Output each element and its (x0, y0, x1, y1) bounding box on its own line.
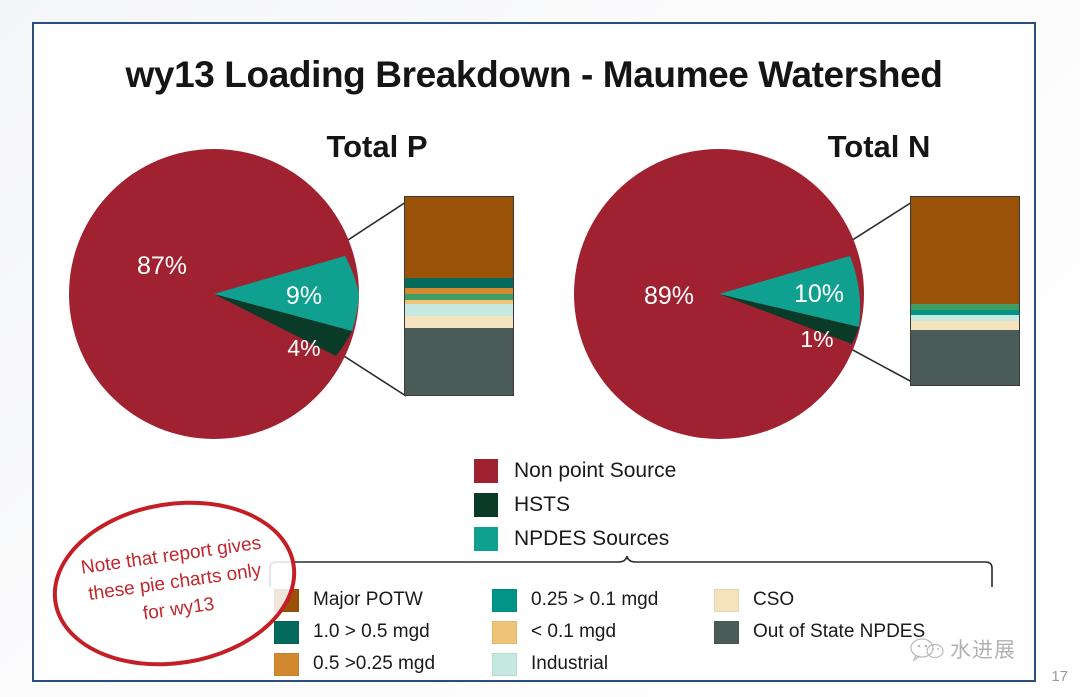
bar-n-segment-out-of-state (911, 330, 1019, 385)
pie-n-value-nonpoint: 89% (644, 282, 694, 310)
legend-label-lt-0-1-mgd: < 0.1 mgd (531, 621, 616, 643)
pie-chart-total-n: 89% 10% 1% (569, 144, 869, 444)
legend-label-hsts: HSTS (514, 493, 570, 517)
legend-label-non-point-source: Non point Source (514, 459, 676, 483)
legend-swatch-0-5-gt-0-25-mgd (274, 653, 299, 676)
legend-item-npdes-sources: NPDES Sources (474, 522, 676, 556)
stacked-bar-total-n (910, 196, 1020, 386)
legend-item-non-point-source: Non point Source (474, 454, 676, 488)
legend-main: Non point Source HSTS NPDES Sources (474, 454, 676, 556)
bar-n-segment-cso (911, 321, 1019, 330)
page-number: 17 (1051, 668, 1068, 685)
legend-label-npdes-sources: NPDES Sources (514, 527, 669, 551)
legend-swatch-lt-0-1-mgd (492, 621, 517, 644)
pie-p-value-hsts: 4% (287, 335, 320, 361)
annotation-note-bubble: Note that report gives these pie charts … (41, 484, 308, 682)
page-title: wy13 Loading Breakdown - Maumee Watershe… (34, 54, 1034, 96)
bar-segment-major-potw (405, 197, 513, 278)
bar-segment-1-0-gt-0-5-mgd (405, 278, 513, 288)
legend-swatch-out-of-state-npdes (714, 621, 739, 644)
watermark: 水进展 (910, 634, 1016, 664)
watermark-text: 水进展 (950, 634, 1016, 664)
legend-bottom-column-1: Major POTW 1.0 > 0.5 mgd 0.5 >0.25 mgd (274, 584, 492, 680)
pie-n-value-npdes: 10% (794, 280, 844, 308)
legend-swatch-npdes-sources (474, 527, 498, 551)
bar-n-segment-major-potw (911, 197, 1019, 304)
legend-bottom-column-3: CSO Out of State NPDES (714, 584, 964, 680)
legend-bottom-column-2: 0.25 > 0.1 mgd < 0.1 mgd Industrial (492, 584, 714, 680)
legend-item-0-25-gt-0-1-mgd: 0.25 > 0.1 mgd (492, 584, 714, 616)
legend-swatch-1-0-gt-0-5-mgd (274, 621, 299, 644)
bar-segment-cso (405, 316, 513, 328)
legend-item-1-0-gt-0-5-mgd: 1.0 > 0.5 mgd (274, 616, 492, 648)
legend-item-cso: CSO (714, 584, 964, 616)
pie-p-value-nonpoint: 87% (137, 252, 187, 280)
bar-segment-industrial (405, 304, 513, 316)
legend-label-0-25-gt-0-1-mgd: 0.25 > 0.1 mgd (531, 589, 658, 611)
legend-item-major-potw: Major POTW (274, 584, 492, 616)
legend-label-cso: CSO (753, 589, 794, 611)
stacked-bar-total-p (404, 196, 514, 396)
legend-item-lt-0-1-mgd: < 0.1 mgd (492, 616, 714, 648)
legend-item-industrial: Industrial (492, 648, 714, 680)
chat-bubble-icon (910, 636, 944, 662)
screenshot-root: wy13 Loading Breakdown - Maumee Watershe… (0, 0, 1080, 697)
legend-bottom: Major POTW 1.0 > 0.5 mgd 0.5 >0.25 mgd 0… (274, 584, 986, 680)
legend-swatch-0-25-gt-0-1-mgd (492, 589, 517, 612)
pie-chart-total-p: 87% 9% 4% (64, 144, 364, 444)
legend-label-industrial: Industrial (531, 653, 608, 675)
slide-frame: wy13 Loading Breakdown - Maumee Watershe… (32, 22, 1036, 682)
legend-item-hsts: HSTS (474, 488, 676, 522)
legend-label-out-of-state-npdes: Out of State NPDES (753, 621, 925, 643)
annotation-note-text: Note that report gives these pie charts … (75, 530, 274, 637)
legend-swatch-cso (714, 589, 739, 612)
legend-label-1-0-gt-0-5-mgd: 1.0 > 0.5 mgd (313, 621, 430, 643)
bar-segment-out-of-state (405, 328, 513, 395)
legend-swatch-hsts (474, 493, 498, 517)
legend-item-0-5-gt-0-25-mgd: 0.5 >0.25 mgd (274, 648, 492, 680)
pie-p-value-npdes: 9% (286, 282, 322, 310)
pie-n-value-hsts: 1% (800, 326, 833, 352)
legend-swatch-industrial (492, 653, 517, 676)
legend-label-major-potw: Major POTW (313, 589, 423, 611)
legend-brace (266, 554, 996, 588)
legend-label-0-5-gt-0-25-mgd: 0.5 >0.25 mgd (313, 653, 435, 675)
legend-swatch-non-point-source (474, 459, 498, 483)
